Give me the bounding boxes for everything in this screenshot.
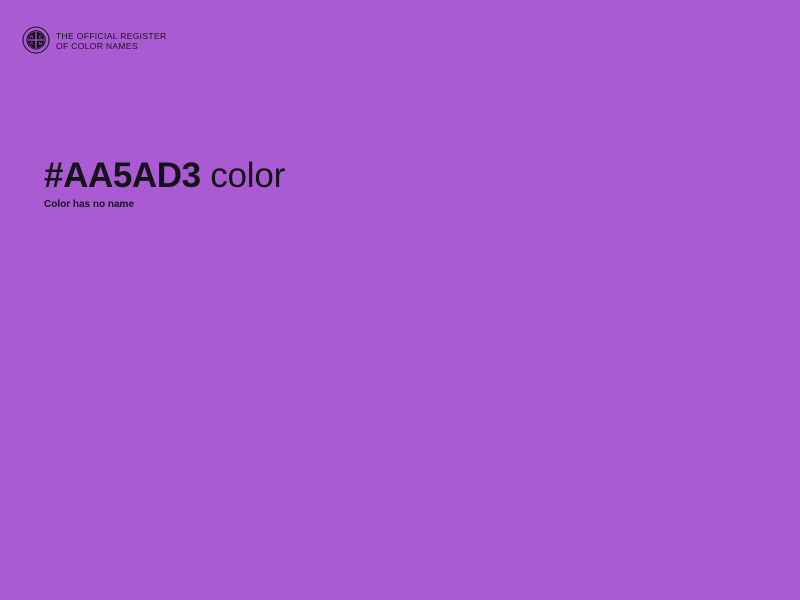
brand-header[interactable]: R E C N THE OFFICIAL REGISTER OF COLOR N… xyxy=(22,26,166,54)
register-seal-icon: R E C N xyxy=(22,26,50,54)
color-name-status: Color has no name xyxy=(44,198,134,212)
svg-text:E: E xyxy=(39,35,42,40)
brand-wordmark: THE OFFICIAL REGISTER OF COLOR NAMES xyxy=(56,31,166,51)
page-title: #AA5AD3 color xyxy=(44,154,285,198)
svg-text:N: N xyxy=(39,41,42,46)
headline-suffix: color xyxy=(201,156,285,195)
color-page: R E C N THE OFFICIAL REGISTER OF COLOR N… xyxy=(0,0,800,600)
headline-suffix-text: color xyxy=(210,156,285,195)
svg-text:R: R xyxy=(30,35,33,40)
brand-line-2: OF COLOR NAMES xyxy=(56,41,166,51)
hex-code: #AA5AD3 xyxy=(44,156,201,195)
svg-text:C: C xyxy=(30,41,33,46)
brand-line-1: THE OFFICIAL REGISTER xyxy=(56,31,166,41)
